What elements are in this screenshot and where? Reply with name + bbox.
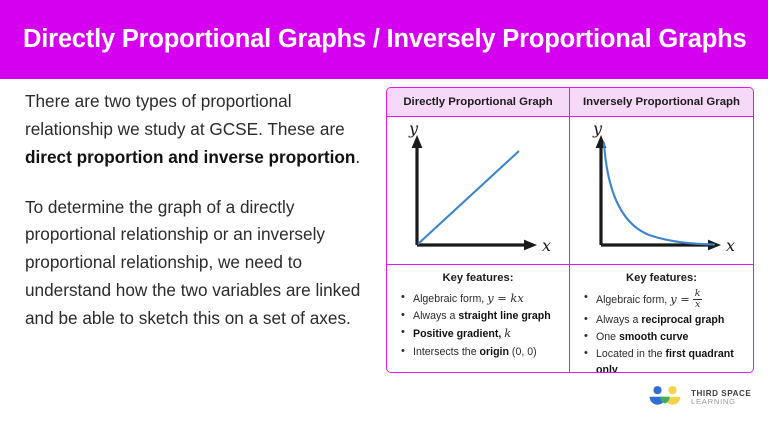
feature-math: y = kx: [487, 291, 524, 305]
paragraph-one-part-1: There are two types of proportional rela…: [25, 91, 345, 139]
feature-text: One: [596, 331, 619, 343]
feature-text-after: (0, 0): [509, 346, 537, 358]
feature-text: Algebraic form,: [596, 294, 667, 306]
list-item: Always a straight line graph: [411, 308, 561, 324]
feature-math: k: [504, 326, 511, 340]
direct-features-title: Key features:: [395, 272, 561, 284]
list-item: Algebraic form, y = kx: [594, 290, 745, 311]
table-graph-row: y x y x: [387, 117, 753, 265]
intro-text-column: There are two types of proportional rela…: [25, 88, 361, 355]
logo-blue-head: [653, 386, 661, 394]
direct-proportion-graph: y x: [387, 117, 569, 263]
feature-text: Intersects the: [413, 346, 480, 358]
paragraph-one-part-2: .: [355, 147, 360, 167]
inverse-features-cell: Key features: Algebraic form, y = kx Alw…: [570, 265, 753, 373]
feature-bold: origin: [480, 346, 509, 358]
page-header-banner: Directly Proportional Graphs / Inversely…: [0, 0, 768, 79]
feature-text: Located in the: [596, 348, 666, 360]
table-header-row: Directly Proportional Graph Inversely Pr…: [387, 88, 753, 117]
table-features-row: Key features: Algebraic form, y = kx Alw…: [387, 265, 753, 373]
feature-math-lead: y =: [670, 292, 690, 306]
inverse-features-list: Algebraic form, y = kx Always a reciproc…: [578, 290, 745, 373]
table-header-inverse: Inversely Proportional Graph: [570, 88, 753, 117]
third-space-learning-mark-icon: [648, 385, 684, 411]
comparison-table: Directly Proportional Graph Inversely Pr…: [386, 87, 754, 373]
direct-proportion-graph-cell: y x: [387, 117, 570, 265]
list-item: Always a reciprocal graph: [594, 312, 745, 328]
y-axis-label: y: [408, 119, 419, 138]
feature-bold: Positive gradient,: [413, 328, 501, 340]
fraction-k-over-x: kx: [693, 289, 703, 310]
x-axis-label: x: [726, 236, 735, 255]
feature-text: Always a: [413, 310, 458, 322]
x-axis-label: x: [542, 236, 551, 255]
table-header-direct: Directly Proportional Graph: [387, 88, 570, 117]
list-item: Positive gradient, k: [411, 325, 561, 342]
inverse-features-title: Key features:: [578, 272, 745, 284]
paragraph-one: There are two types of proportional rela…: [25, 88, 361, 172]
direct-features-list: Algebraic form, y = kx Always a straight…: [395, 290, 561, 360]
y-axis-label: y: [592, 119, 603, 138]
proportional-line: [418, 151, 519, 244]
list-item: Algebraic form, y = kx: [411, 290, 561, 307]
list-item: One smooth curve: [594, 329, 745, 345]
paragraph-two: To determine the graph of a directly pro…: [25, 194, 361, 333]
logo-wordmark: THIRD SPACE LEARNING: [691, 389, 751, 407]
list-item: Located in the first quadrant only: [594, 346, 745, 373]
feature-bold: smooth curve: [619, 331, 688, 343]
feature-text: Always a: [596, 314, 641, 326]
brand-logo: THIRD SPACE LEARNING: [648, 385, 751, 411]
reciprocal-curve: [604, 143, 714, 245]
page-title: Directly Proportional Graphs / Inversely…: [0, 27, 746, 53]
logo-yellow-head: [668, 386, 676, 394]
inverse-proportion-graph: y x: [571, 117, 753, 263]
direct-features-cell: Key features: Algebraic form, y = kx Alw…: [387, 265, 570, 373]
fraction-numerator: k: [693, 289, 703, 299]
feature-bold: reciprocal graph: [641, 314, 724, 326]
inverse-proportion-graph-cell: y x: [570, 117, 753, 265]
logo-line-two: LEARNING: [691, 398, 751, 407]
fraction-denominator: x: [693, 299, 703, 310]
feature-bold: straight line graph: [458, 310, 550, 322]
list-item: Intersects the origin (0, 0): [411, 344, 561, 360]
x-axis-arrowhead-icon: [524, 240, 537, 251]
paragraph-one-bold: direct proportion and inverse proportion: [25, 147, 355, 167]
feature-text: Algebraic form,: [413, 293, 484, 305]
